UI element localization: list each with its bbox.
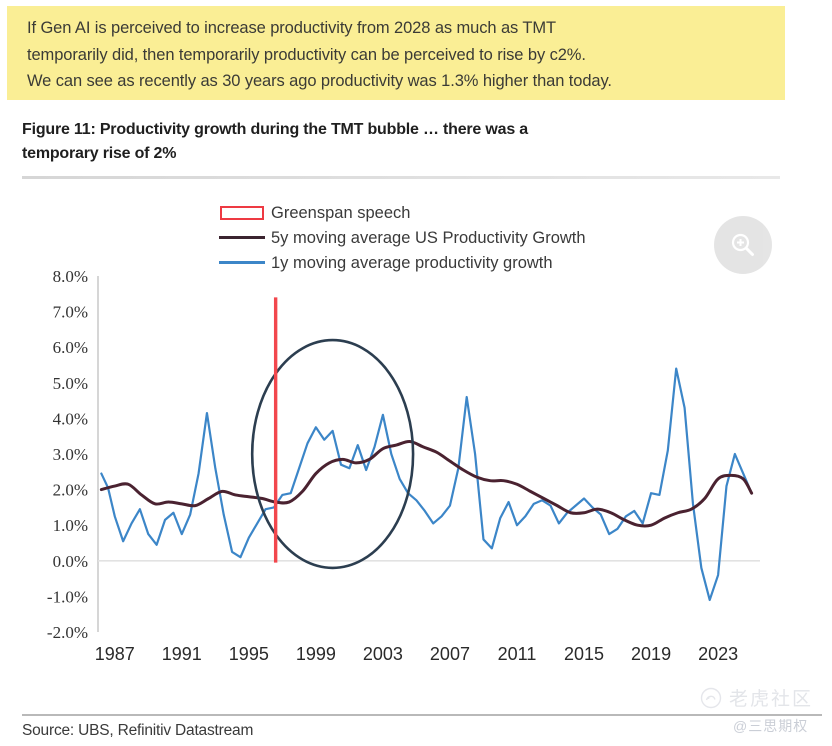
y-tick-label: -2.0% bbox=[47, 623, 88, 642]
y-tick-label: 2.0% bbox=[53, 481, 88, 500]
x-tick-label: 2011 bbox=[498, 644, 537, 664]
y-tick-label: 0.0% bbox=[53, 552, 88, 571]
y-tick-label: 4.0% bbox=[53, 409, 88, 428]
y-tick-label: 7.0% bbox=[53, 303, 88, 322]
y-axis-tick-labels: 8.0%7.0%6.0%5.0%4.0%3.0%2.0%1.0%0.0%-1.0… bbox=[47, 267, 88, 642]
zoom-in-magnifier-icon bbox=[728, 230, 758, 260]
source-note: Source: UBS, Refinitiv Datastream bbox=[22, 722, 253, 740]
title-divider bbox=[22, 176, 780, 179]
figure-title: Figure 11: Productivity growth during th… bbox=[22, 118, 722, 166]
callout-line-2: temporarily did, then temporarily produc… bbox=[27, 42, 771, 69]
x-tick-label: 2007 bbox=[430, 644, 470, 664]
callout-line-1: If Gen AI is perceived to increase produ… bbox=[27, 15, 771, 42]
x-tick-label: 2019 bbox=[631, 644, 671, 664]
legend-key-box-icon bbox=[218, 205, 266, 221]
productivity-growth-line-chart: 8.0%7.0%6.0%5.0%4.0%3.0%2.0%1.0%0.0%-1.0… bbox=[0, 258, 832, 668]
y-tick-label: 1.0% bbox=[53, 516, 88, 535]
figure-title-line-2: temporary rise of 2% bbox=[22, 142, 722, 166]
footer-divider bbox=[22, 714, 822, 716]
legend-label-greenspan-speech: Greenspan speech bbox=[271, 203, 410, 223]
y-tick-label: 5.0% bbox=[53, 374, 88, 393]
chart-area: 8.0%7.0%6.0%5.0%4.0%3.0%2.0%1.0%0.0%-1.0… bbox=[0, 258, 832, 668]
series-line-1y-moving-average bbox=[101, 369, 751, 600]
legend-item-5y-moving-average: 5y moving average US Productivity Growth bbox=[218, 225, 586, 250]
x-tick-label: 1991 bbox=[162, 644, 202, 664]
watermark-brand-text: 老虎社区 bbox=[729, 684, 813, 711]
tiger-community-logo-icon bbox=[700, 687, 722, 709]
y-tick-label: 3.0% bbox=[53, 445, 88, 464]
figure-title-line-1: Figure 11: Productivity growth during th… bbox=[22, 118, 722, 142]
x-tick-label: 1999 bbox=[296, 644, 336, 664]
highlight-callout: If Gen AI is perceived to increase produ… bbox=[7, 6, 785, 100]
callout-line-3: We can see as recently as 30 years ago p… bbox=[27, 68, 771, 95]
y-tick-label: -1.0% bbox=[47, 587, 88, 606]
legend-item-greenspan-speech: Greenspan speech bbox=[218, 200, 586, 225]
legend-key-line-dark-icon bbox=[218, 230, 266, 246]
x-tick-label: 2015 bbox=[564, 644, 604, 664]
x-tick-label: 1995 bbox=[229, 644, 269, 664]
x-tick-label: 2003 bbox=[363, 644, 403, 664]
y-tick-label: 8.0% bbox=[53, 267, 88, 286]
watermark-brand: 老虎社区 bbox=[700, 684, 813, 711]
x-tick-label: 1987 bbox=[95, 644, 135, 664]
x-axis-tick-labels: 1987199119951999200320072011201520192023 bbox=[95, 644, 738, 664]
legend-label-5y-moving-average: 5y moving average US Productivity Growth bbox=[271, 228, 586, 248]
watermark-handle: @三思期权 bbox=[733, 716, 808, 736]
x-tick-label: 2023 bbox=[698, 644, 738, 664]
y-tick-label: 6.0% bbox=[53, 338, 88, 357]
